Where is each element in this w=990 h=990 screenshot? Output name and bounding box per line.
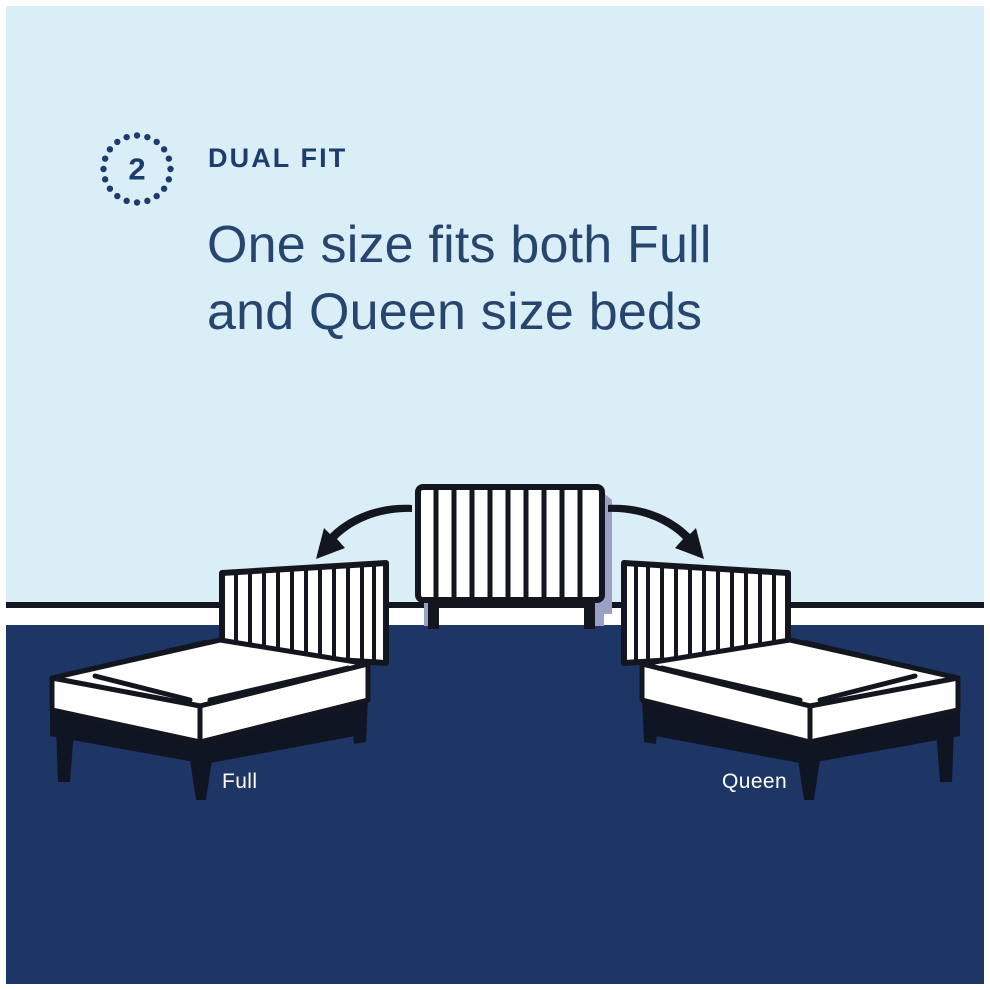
floor-background [6,625,984,984]
headline-line-2: and Queen size beds [207,279,887,346]
headline-line-1: One size fits both Full [207,212,887,279]
baseboard [6,608,984,625]
bed-label-queen: Queen [722,770,787,794]
page-title: One size fits both Full and Queen size b… [207,212,887,345]
illustration-card: 2 DUAL FIT One size fits both Full and Q… [0,0,990,990]
section-eyebrow: DUAL FIT [208,142,347,174]
bed-label-full: Full [222,770,257,794]
svg-text:2: 2 [128,152,145,187]
step-number-badge: 2 [96,128,178,210]
